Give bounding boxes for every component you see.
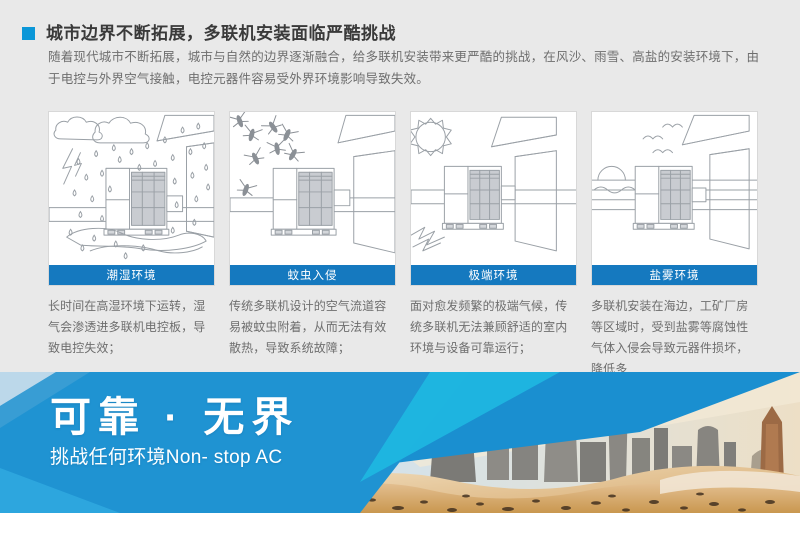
environment-card[interactable]: 极端环境 bbox=[410, 111, 577, 286]
banner-subline: 挑战任何环境Non- stop AC bbox=[50, 444, 299, 472]
card-label: 极端环境 bbox=[411, 265, 576, 285]
card-illustration bbox=[592, 112, 757, 265]
intro-paragraph: 随着现代城市不断拓展，城市与自然的边界逐渐融合，给多联机安装带来更严酷的挑战，在… bbox=[48, 46, 762, 90]
banner-text-block: 可靠 · 无界 挑战任何环境Non- stop AC bbox=[50, 392, 299, 472]
environment-card-list: 潮湿环境 bbox=[48, 111, 758, 286]
card-label: 潮湿环境 bbox=[49, 265, 214, 285]
promo-banner: 可靠 · 无界 挑战任何环境Non- stop AC bbox=[0, 372, 800, 513]
card-illustration bbox=[411, 112, 576, 265]
header-section: 城市边界不断拓展，多联机安装面临严酷挑战 随着现代城市不断拓展，城市与自然的边界… bbox=[0, 0, 800, 100]
bullet-square-icon bbox=[22, 27, 35, 40]
environment-card[interactable]: 蚊虫入侵 bbox=[229, 111, 396, 286]
card-illustration bbox=[230, 112, 395, 265]
card-label: 蚊虫入侵 bbox=[230, 265, 395, 285]
card-illustration bbox=[49, 112, 214, 265]
page-root: 城市边界不断拓展，多联机安装面临严酷挑战 随着现代城市不断拓展，城市与自然的边界… bbox=[0, 0, 800, 548]
page-title-row: 城市边界不断拓展，多联机安装面临严酷挑战 bbox=[22, 19, 396, 44]
environment-card[interactable]: 盐雾环境 bbox=[591, 111, 758, 286]
footer-spacer bbox=[0, 513, 800, 548]
environment-card[interactable]: 潮湿环境 bbox=[48, 111, 215, 286]
page-title: 城市边界不断拓展，多联机安装面临严酷挑战 bbox=[46, 19, 396, 44]
card-label: 盐雾环境 bbox=[592, 265, 757, 285]
banner-headline: 可靠 · 无界 bbox=[50, 392, 299, 442]
